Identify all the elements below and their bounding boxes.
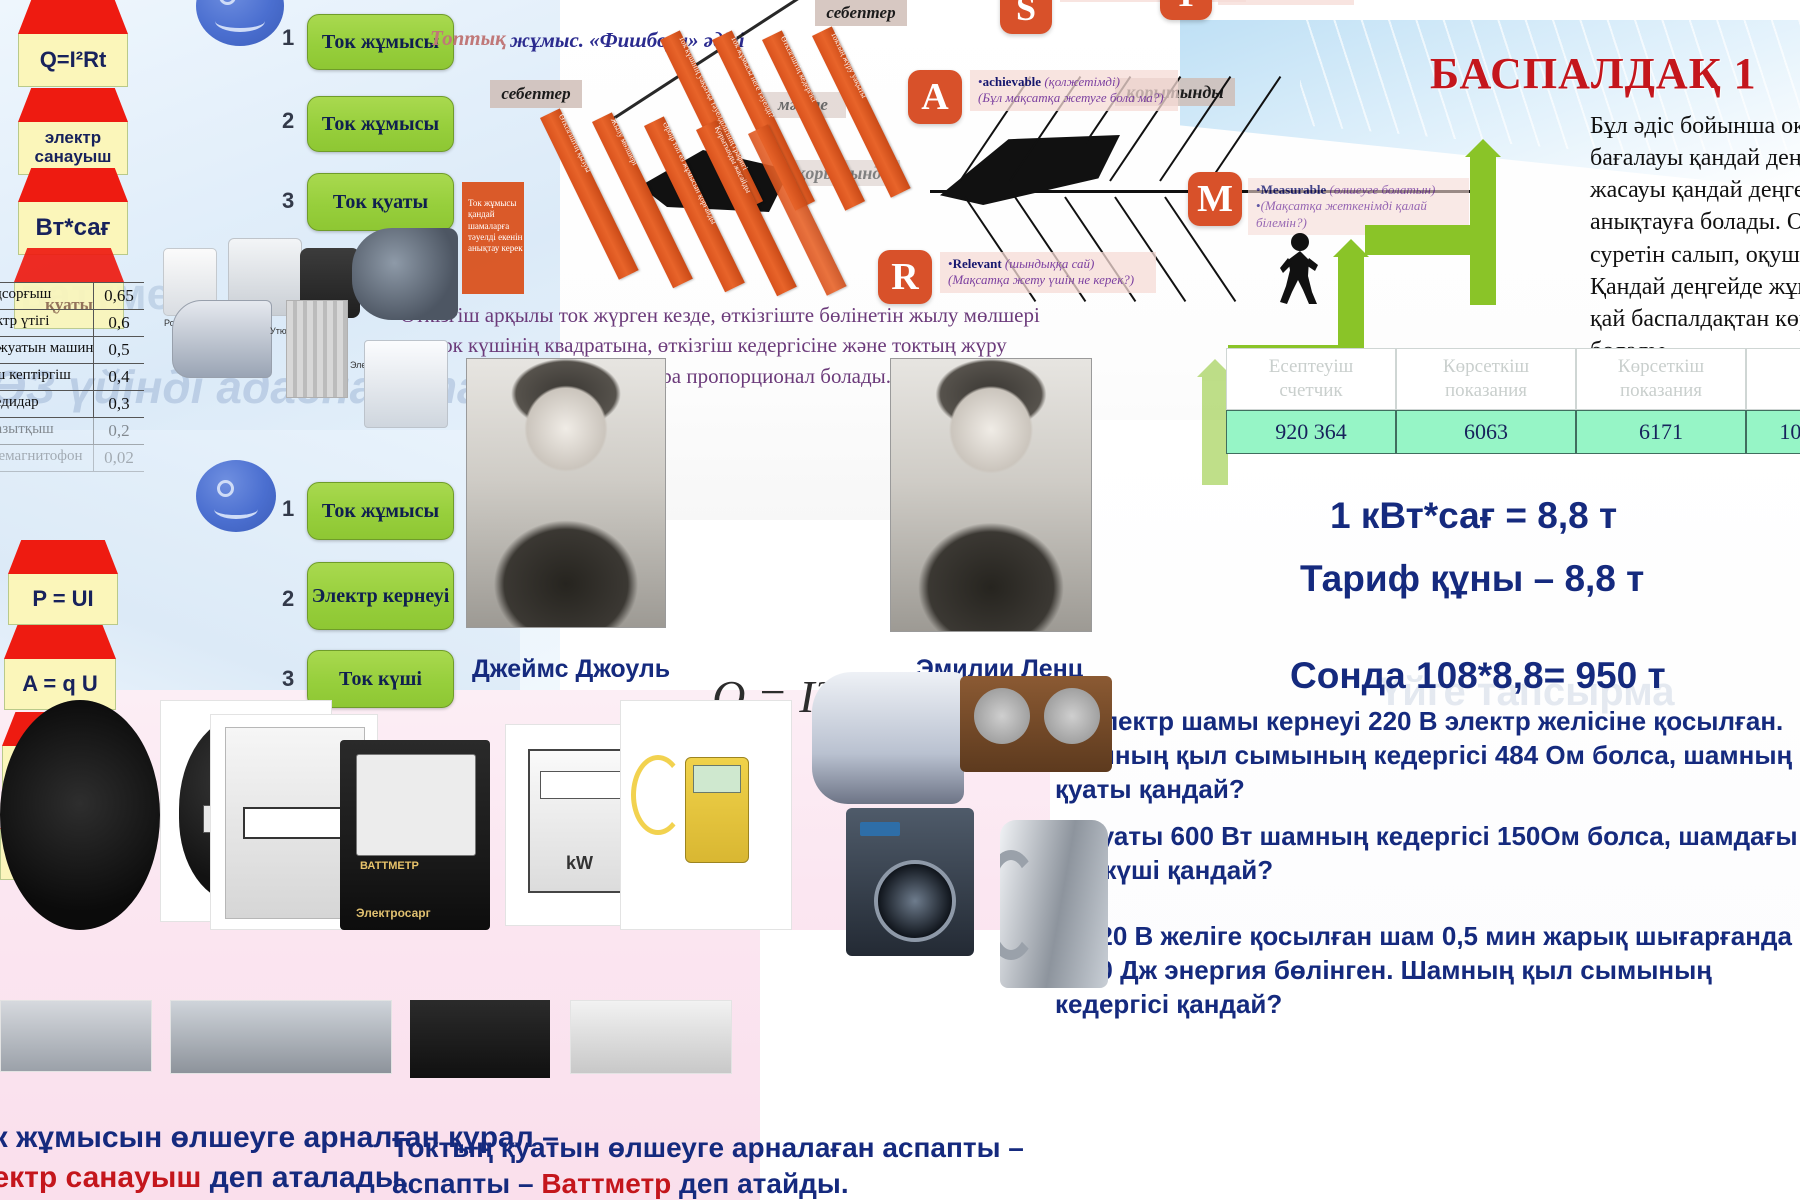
bottom-summary-2-line2: аспапты – Ваттметр деп атайды.: [392, 1166, 849, 1200]
portrait-caption-joule: Джеймс Джоуль: [472, 655, 670, 684]
hotplate-burner: [974, 688, 1030, 744]
house-card-meter: электр санауыш: [18, 88, 128, 175]
list-number: 2: [282, 108, 294, 134]
ladder-arrow-up-1: [1202, 375, 1228, 485]
appliance-power-table: Шаңсорғыш 0,65 Электр үтігі 0,6 Кір жуат…: [0, 282, 144, 472]
tariff-line-2: Тариф құны – 8,8 т: [1300, 558, 1644, 600]
photo-heater: [286, 300, 348, 398]
fishbone-block-text: Ток жұмысы қандай шамаларға тәуелді екен…: [466, 196, 526, 295]
portrait-image: [467, 359, 665, 627]
roof-icon: [18, 0, 128, 34]
table-header-row: Есептеуіш счетчик Көрсеткіш показания Кө…: [1226, 348, 1800, 410]
table-row: Шаңсорғыш 0,65: [0, 282, 144, 310]
smart-letter-s: S: [1000, 0, 1052, 34]
green-item-2-current-work[interactable]: Ток жұмысы: [307, 482, 454, 540]
device-power: 0,65: [94, 283, 144, 309]
device-name: Шаңсорғыш: [0, 283, 94, 309]
header-kk: Көрсеткіш: [1443, 356, 1529, 377]
header-ru: счетчик: [1279, 380, 1342, 401]
portrait-lenz: [890, 358, 1092, 632]
roof-icon: [8, 540, 118, 574]
smart-text-a: •achievable (қолжетімді) (Бұл мақсатқа ж…: [970, 70, 1178, 111]
table-row: Электр үтігі 0,6: [0, 310, 144, 337]
photo-device-d: [570, 1000, 732, 1074]
task-item-1: 1. Электр шамы кернеуі 220 В электр желі…: [1055, 705, 1800, 806]
photo-washing-machine: [846, 808, 974, 956]
baspaldak-title: БАСПАЛДАҚ 1: [1430, 48, 1757, 99]
device-power: 0,3: [94, 391, 144, 417]
vattmetr-brand-label: ВАТТМЕТР: [360, 860, 419, 872]
device-power: 0,4: [94, 364, 144, 390]
roof-icon: [4, 625, 116, 659]
data-cell: 6063: [1396, 410, 1576, 454]
list-number: 3: [282, 188, 294, 214]
summary-pre: Токтың қуатын өлшеуге арналаған аспапты …: [392, 1132, 1024, 1163]
device-name: Электр үтігі: [0, 310, 94, 336]
header-kk: Есептеуіш: [1269, 356, 1354, 377]
smart-kk: (шындыққа сай): [1005, 256, 1094, 271]
list-number: 1: [282, 25, 294, 51]
photo-iron: [172, 300, 272, 378]
data-cell: 920 364: [1226, 410, 1396, 454]
fishbone-title-prefix: Топтық: [430, 26, 506, 51]
device-power: 0,02: [94, 445, 144, 471]
house-card-label: P = UI: [8, 574, 118, 625]
photo-label-elektrosarg: Электросарг: [356, 906, 431, 920]
smart-letter-t: T: [1160, 0, 1212, 20]
portrait-joule: [466, 358, 666, 628]
photo-device-a: [0, 1000, 152, 1072]
slide-collage: ваттметр ӨЗ үйінді адаспай тап Үйге тапс…: [0, 0, 1800, 1200]
bottom-summary-2: Токтың қуатын өлшеуге арналаған аспапты …: [392, 1130, 1024, 1166]
smart-letter-a: A: [908, 70, 962, 124]
list-number: 3: [282, 666, 294, 692]
smart-en: Relevant: [953, 256, 1002, 271]
photo-device-b: [170, 1000, 392, 1074]
task-item-2: 2. Қуаты 600 Вт шамның кедергісі 150Ом б…: [1055, 820, 1800, 888]
summary-post: деп атайды.: [679, 1168, 849, 1199]
header-cell: Шығын расход: [1746, 348, 1800, 410]
smart-letter-m: M: [1188, 172, 1242, 226]
photo-multimeter: [620, 700, 792, 930]
smart-en: Measurable: [1261, 182, 1327, 197]
fishbone-tag-causes-1: себептер: [490, 80, 582, 108]
walking-person-icon: [1278, 232, 1324, 306]
device-name: Тоңазытқыш: [0, 418, 94, 444]
house-card-p-ui: P = UI: [8, 540, 118, 625]
clamp-icon: [631, 755, 685, 835]
photo-meter-dark: [0, 700, 160, 930]
summary-red: электр санауыш: [0, 1161, 201, 1194]
green-item-2-voltage[interactable]: Электр кернеуі: [307, 562, 454, 630]
bottom-summary-1-line2: электр санауыш деп аталады.: [0, 1158, 409, 1197]
tariff-line-1: 1 кВт*сағ = 8,8 т: [1330, 495, 1617, 537]
smart-letter-r: R: [878, 250, 932, 304]
list-number: 1: [282, 496, 294, 522]
table-row: Тоңазытқыш 0,2: [0, 418, 144, 445]
washer-display: [860, 822, 900, 836]
smart-text-t: (Қашан орындау керек?): [1218, 0, 1354, 5]
header-cell: Көрсеткіш показания: [1576, 348, 1746, 410]
table-data-row: 920 364 6063 6171 108 кВт*сағ: [1226, 410, 1800, 454]
header-ru: показания: [1445, 380, 1527, 401]
table-row: Үндемагнитофон 0,02: [0, 445, 144, 472]
photo-device-c: [410, 1000, 550, 1078]
device-name: Теледидар: [0, 391, 94, 417]
table-row: Теледидар 0,3: [0, 391, 144, 418]
baspaldak-body: Бұл әдіс бойынша оқушының өзін-өзі бағал…: [1590, 110, 1800, 367]
roof-icon: [18, 168, 128, 202]
kettle-handle: [1000, 850, 1040, 960]
smart-en: achievable: [983, 74, 1042, 89]
device-power: 0,6: [94, 310, 144, 336]
header-cell: Көрсеткіш показания: [1396, 348, 1576, 410]
table-row: Шаш кептіргіш 0,4: [0, 364, 144, 391]
task-item-3: 3. 220 В желіге қосылған шам 0,5 мин жар…: [1055, 920, 1800, 1021]
header-kk: Көрсеткіш: [1618, 356, 1704, 377]
summary-dash: аспапты –: [392, 1168, 534, 1199]
multimeter-display: [693, 765, 741, 793]
fishbone-title: жұмыс. «Фишбоун» әдісі: [510, 28, 745, 53]
green-item-current-work-2[interactable]: Ток жұмысы: [307, 96, 454, 152]
summary-red: Ваттметр: [541, 1168, 671, 1199]
meter-digits: [243, 807, 351, 839]
photo-hotplate: [960, 676, 1112, 772]
header-ru: показания: [1620, 380, 1702, 401]
house-card-label: Q=I²Rt: [18, 34, 128, 87]
smiley-icon: [196, 460, 276, 532]
task-text: Электр шамы кернеуі 220 В электр желісін…: [1055, 706, 1792, 804]
smart-text-r: •Relevant (шындыққа сай) (Мақсатқа жету …: [940, 252, 1156, 293]
washer-door: [874, 860, 956, 942]
hotplate-burner: [1044, 688, 1100, 744]
photo-vattmetr: ВАТТМЕТР: [340, 740, 490, 930]
photo-kettle: [1000, 820, 1108, 988]
smart-q: (Бұл мақсатқа жетуге бола ма?): [978, 90, 1164, 105]
house-card-watthour: Вт*сағ: [18, 168, 128, 255]
smart-kk: (өлшеуге болатын): [1330, 182, 1436, 197]
house-card-a-qu: A = q U: [4, 625, 116, 710]
task-text: Қуаты 600 Вт шамның кедергісі 150Ом болс…: [1055, 821, 1798, 885]
vattmetr-dial: [356, 754, 476, 856]
header-cell: Есептеуіш счетчик: [1226, 348, 1396, 410]
device-name: Шаш кептіргіш: [0, 364, 94, 390]
data-cell: 108 кВт*сағ: [1746, 410, 1800, 454]
roof-icon: [14, 248, 124, 282]
ladder-arrow-right-3: [1365, 225, 1477, 255]
list-number: 2: [282, 586, 294, 612]
kw-label: kW: [566, 853, 593, 874]
portrait-image: [891, 359, 1091, 631]
meter-readings-table: Есептеуіш счетчик Көрсеткіш показания Кө…: [1226, 348, 1800, 454]
task-text: 220 В желіге қосылған шам 0,5 мин жарық …: [1055, 921, 1792, 1019]
fishbone-tag-causes-2: себептер: [815, 0, 907, 26]
summary-post: деп аталады.: [210, 1161, 409, 1194]
green-item-current-power[interactable]: Ток қуаты: [307, 173, 454, 231]
device-power: 0,2: [94, 418, 144, 444]
photo-heater-2: [364, 340, 448, 428]
photo-hairdryer: [352, 228, 458, 320]
roof-icon: [18, 88, 128, 122]
house-card-q-formula: Q=I²Rt: [18, 0, 128, 87]
smart-kk: (қолжетімді): [1044, 74, 1120, 89]
device-name: Үндемагнитофон: [0, 445, 94, 471]
smart-q: (Мақсатқа жету үшін не керек?): [948, 272, 1134, 287]
photo-iron-blue: [812, 672, 964, 804]
data-cell: 6171: [1576, 410, 1746, 454]
table-row: Кір жуатын машина 0,5: [0, 337, 144, 364]
device-power: 0,5: [94, 337, 144, 363]
tariff-line-3: Сонда 108*8,8= 950 т: [1290, 655, 1666, 697]
device-name: Кір жуатын машина: [0, 337, 94, 363]
